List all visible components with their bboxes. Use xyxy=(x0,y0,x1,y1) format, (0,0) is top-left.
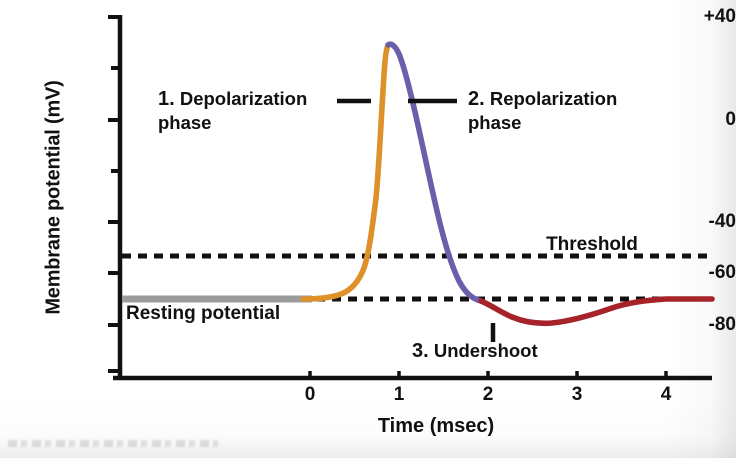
annotation-undershoot-number: 3. xyxy=(412,340,429,362)
repolarization-curve xyxy=(388,44,481,301)
action-potential-figure: Membrane potential (mV) +40 0 -40 -60 -8… xyxy=(0,0,736,458)
y-tick-label-neg60: -60 xyxy=(666,262,736,284)
y-tick-label-neg40: -40 xyxy=(666,211,736,233)
y-axis-title: Membrane potential (mV) xyxy=(43,48,66,348)
annotation-repolarization-text: Repolarization phase xyxy=(468,88,617,133)
y-tick-label-40: +40 xyxy=(666,6,736,28)
annotation-repolarization: 2. Repolarization phase xyxy=(468,88,617,133)
x-axis-title: Time (msec) xyxy=(0,415,736,438)
x-tick-label-3: 3 xyxy=(557,384,597,406)
x-tick-label-1: 1 xyxy=(379,384,419,406)
resting-potential-label: Resting potential xyxy=(126,303,280,325)
annotation-depolarization-text: Depolarization phase xyxy=(158,88,307,133)
caption-artifact xyxy=(8,440,218,447)
y-tick-label-0: 0 xyxy=(666,109,736,131)
annotation-undershoot-text: Undershoot xyxy=(429,340,538,361)
x-tick-label-0: 0 xyxy=(290,384,330,406)
annotation-undershoot: 3. Undershoot xyxy=(412,340,538,364)
annotation-depolarization-number: 1. xyxy=(158,88,175,110)
chart-canvas xyxy=(0,0,736,458)
x-tick-label-2: 2 xyxy=(468,384,508,406)
annotation-repolarization-number: 2. xyxy=(468,88,485,110)
y-tick-label-neg80: -80 xyxy=(666,314,736,336)
annotation-depolarization: 1. Depolarization phase xyxy=(158,88,307,133)
depolarization-curve xyxy=(303,45,388,299)
x-axis-title-text: Time (msec) xyxy=(378,415,494,437)
x-tick-label-4: 4 xyxy=(646,384,686,406)
threshold-label: Threshold xyxy=(546,234,638,256)
